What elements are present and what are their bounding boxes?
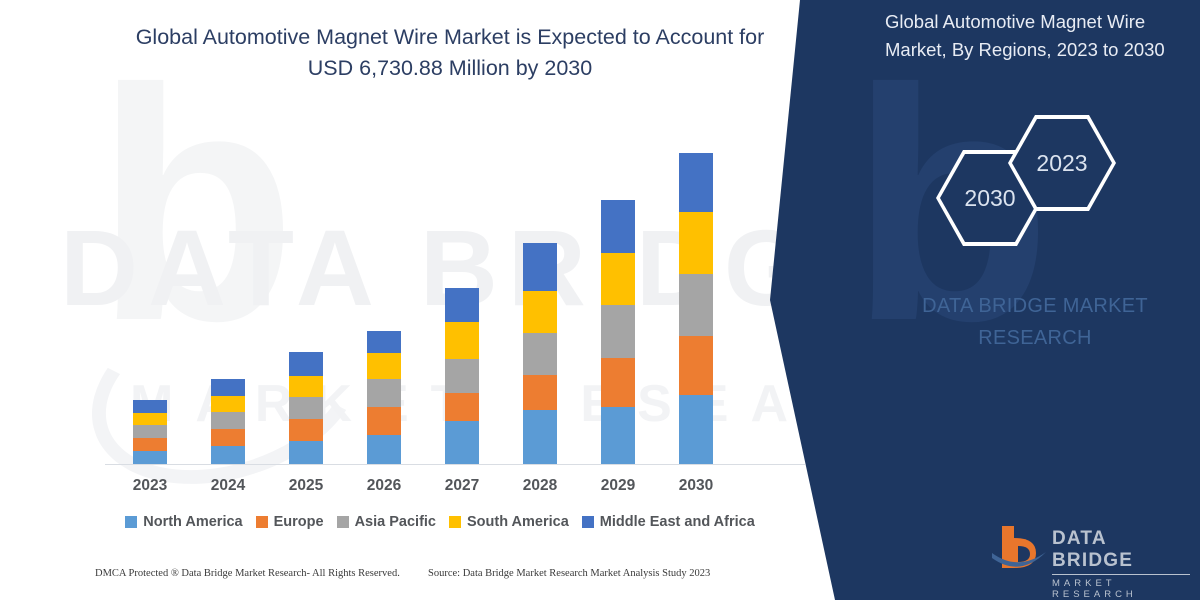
legend-item: Middle East and Africa [582,514,755,530]
bar-segment [601,358,635,407]
bar-segment [289,441,323,464]
footer: DMCA Protected ® Data Bridge Market Rese… [0,568,800,588]
legend-item: South America [449,514,569,530]
legend-item: North America [125,514,242,530]
panel-title: Global Automotive Magnet Wire Market, By… [885,8,1185,64]
legend-label: Europe [274,514,324,530]
bar-segment [289,397,323,419]
panel-brand: DATA BRIDGE MARKET RESEARCH [870,290,1200,354]
bar-segment [445,322,479,359]
x-axis-label-2026: 2026 [349,477,419,495]
bar-segment [211,396,245,412]
panel-brand-line1: DATA BRIDGE MARKET [922,295,1148,317]
bar-2030 [679,153,713,464]
panel-brand-line2: RESEARCH [978,327,1092,349]
bar-segment [367,407,401,435]
legend-label: North America [143,514,242,530]
bar-segment [523,333,557,375]
hexagon-badge-2023: 2023 [1008,115,1116,211]
bar-segment [289,352,323,376]
x-axis-label-2024: 2024 [193,477,263,495]
bar-segment [445,288,479,322]
bar-segment [679,395,713,464]
bar-segment [679,153,713,212]
bar-segment [133,451,167,464]
bar-segment [133,413,167,425]
bar-segment [367,331,401,353]
bar-2029 [601,200,635,464]
bar-segment [211,412,245,429]
bar-2027 [445,288,479,464]
legend-swatch [337,516,349,528]
infographic-root: b DATA BRIDGE MARKET RESEARCH Global Aut… [0,0,1200,600]
right-panel: b Global Automotive Magnet Wire Market, … [740,0,1200,600]
x-axis-label-2030: 2030 [661,477,731,495]
bar-segment [289,419,323,441]
legend-swatch [449,516,461,528]
chart-legend: North AmericaEuropeAsia PacificSouth Ame… [105,514,775,530]
bar-segment [211,446,245,464]
bar-segment [679,336,713,395]
bar-segment [445,393,479,421]
legend-item: Europe [256,514,324,530]
footer-source: Source: Data Bridge Market Research Mark… [428,568,710,579]
bar-segment [367,379,401,407]
legend-label: Asia Pacific [355,514,436,530]
bar-segment [211,379,245,396]
legend-swatch [582,516,594,528]
bar-segment [445,421,479,464]
bar-segment [679,212,713,274]
legend-label: South America [467,514,569,530]
legend-item: Asia Pacific [337,514,436,530]
dbmr-logo-icon [990,522,1048,574]
stacked-bar-chart: 20232024202520262027202820292030 [0,0,800,600]
bar-2025 [289,352,323,464]
bar-segment [679,274,713,336]
bar-segment [523,375,557,410]
bar-segment [289,376,323,397]
bar-segment [211,429,245,446]
dbmr-logo-text: DATA BRIDGE MARKET RESEARCH [1052,528,1190,600]
dbmr-logo-line1: DATA BRIDGE [1052,528,1190,575]
bar-segment [601,407,635,464]
bar-2024 [211,379,245,464]
hexagon-label-2023: 2023 [1036,150,1087,177]
x-axis-line [105,464,805,465]
bar-segment [133,438,167,451]
bar-segment [601,253,635,305]
legend-swatch [125,516,137,528]
bar-segment [523,243,557,291]
x-axis-label-2027: 2027 [427,477,497,495]
x-axis-label-2028: 2028 [505,477,575,495]
bar-segment [523,291,557,333]
dbmr-logo: DATA BRIDGE MARKET RESEARCH [990,522,1190,578]
bar-segment [133,400,167,413]
bar-segment [367,435,401,464]
x-axis-label-2025: 2025 [271,477,341,495]
legend-swatch [256,516,268,528]
x-axis-label-2029: 2029 [583,477,653,495]
legend-label: Middle East and Africa [600,514,755,530]
bar-segment [523,410,557,464]
bar-segment [445,359,479,393]
x-axis-label-2023: 2023 [115,477,185,495]
dbmr-logo-line2: MARKET RESEARCH [1052,578,1190,600]
footer-copyright: DMCA Protected ® Data Bridge Market Rese… [95,568,400,579]
bar-segment [601,305,635,358]
bar-segment [601,200,635,253]
bar-2023 [133,400,167,464]
bar-2026 [367,331,401,464]
bar-segment [367,353,401,379]
bar-2028 [523,243,557,464]
bar-segment [133,425,167,438]
